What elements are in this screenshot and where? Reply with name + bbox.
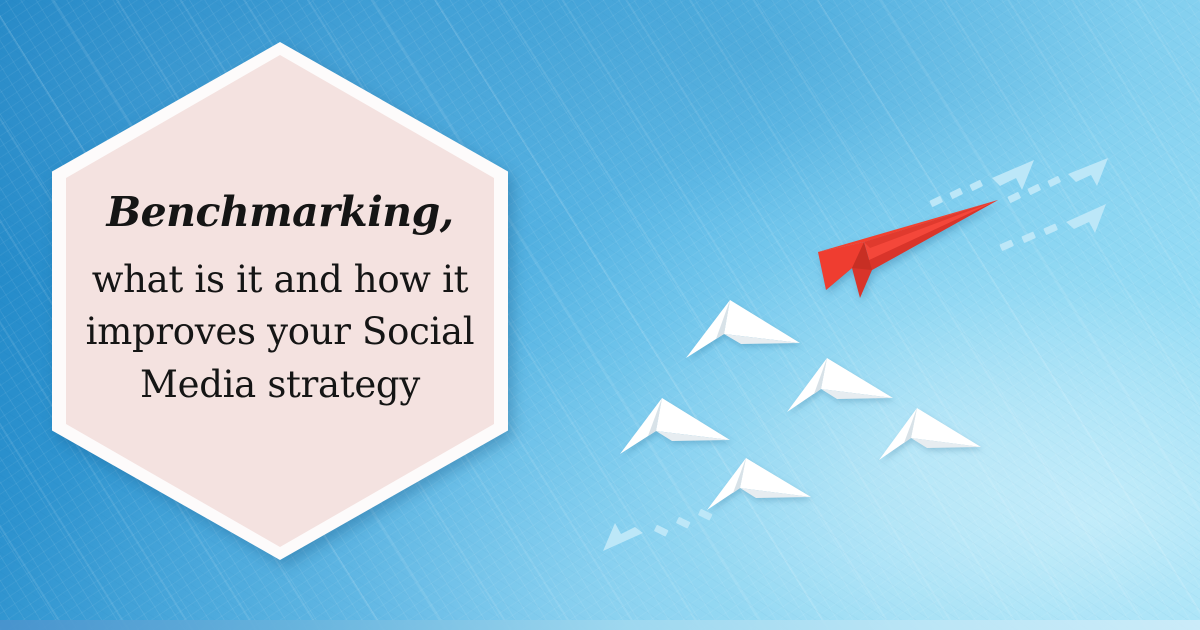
title-block: Benchmarking, what is it and how it impr… [52,42,508,560]
white-paper-plane-icon [620,398,730,460]
white-paper-plane-icon [879,408,981,466]
hexagon-title-card: Benchmarking, what is it and how it impr… [52,42,508,560]
page-subtitle-line-2: improves your Social [86,306,475,359]
white-paper-plane-icon [686,300,800,364]
dashed-arrow-trail-icon [595,505,725,565]
page-subtitle-line-3: Media strategy [140,359,420,412]
white-paper-plane-icon [707,458,811,516]
dashed-arrow-trail-icon [1000,198,1130,260]
page-subtitle-line-1: what is it and how it [92,254,469,307]
banner-canvas: Benchmarking, what is it and how it impr… [0,0,1200,630]
page-title-emphasis: Benchmarking, [106,191,453,234]
white-paper-plane-icon [787,358,893,418]
red-paper-plane-icon [812,186,1002,310]
bottom-accent-band [0,620,1200,630]
